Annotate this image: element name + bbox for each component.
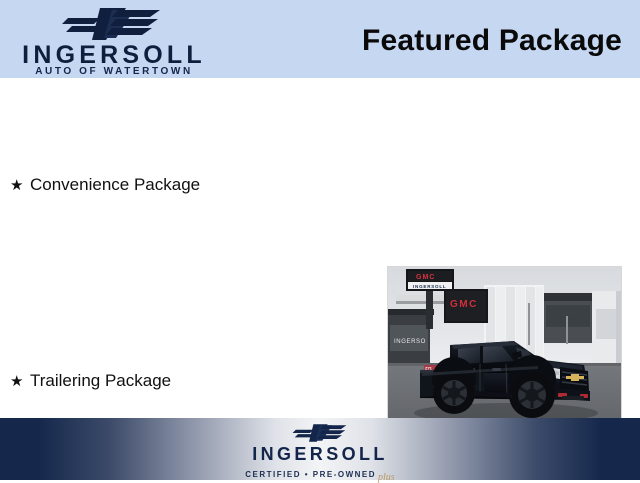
brand-wordmark: INGERSOLL — [16, 42, 212, 68]
content-area: ★ Convenience Package ★ Trailering Packa… — [0, 78, 640, 418]
page-title: Featured Package — [362, 24, 622, 58]
svg-text:Z71: Z71 — [425, 365, 433, 370]
svg-text:GMC: GMC — [416, 274, 435, 281]
ingersoll-wing-icon — [287, 422, 353, 444]
vehicle-photo-image: INGERSO GMC INGERSOLL GMC — [388, 267, 621, 439]
ingersoll-wing-icon — [56, 4, 168, 44]
footer-bar: INGERSOLL CERTIFIED • PRE-OWNEDplus — [0, 418, 640, 480]
footer-tagline: CERTIFIED • PRE-OWNED — [245, 470, 376, 479]
footer-wordmark: INGERSOLL — [230, 445, 410, 464]
brand-tagline: AUTO OF WATERTOWN — [16, 66, 212, 77]
feature-label: Convenience Package — [30, 174, 200, 196]
footer-script-accent: plus — [378, 472, 395, 483]
vehicle-photo[interactable]: INGERSO GMC INGERSOLL GMC — [387, 266, 622, 440]
svg-text:INGERSOLL: INGERSOLL — [413, 284, 446, 289]
brand-logo[interactable]: INGERSOLL AUTO OF WATERTOWN — [8, 2, 208, 78]
feature-list-item: ★ Convenience Package — [10, 174, 200, 197]
svg-text:GMC: GMC — [450, 299, 478, 310]
star-bullet-icon: ★ — [10, 371, 30, 393]
star-bullet-icon: ★ — [10, 175, 30, 197]
svg-text:INGERSO: INGERSO — [394, 339, 426, 345]
footer-tagline-row: CERTIFIED • PRE-OWNEDplus — [230, 464, 410, 478]
header-bar: INGERSOLL AUTO OF WATERTOWN Featured Pac… — [0, 0, 640, 78]
feature-list-item: ★ Trailering Package — [10, 370, 171, 393]
footer-logo[interactable]: INGERSOLL CERTIFIED • PRE-OWNEDplus — [230, 422, 410, 478]
feature-label: Trailering Package — [30, 370, 171, 392]
